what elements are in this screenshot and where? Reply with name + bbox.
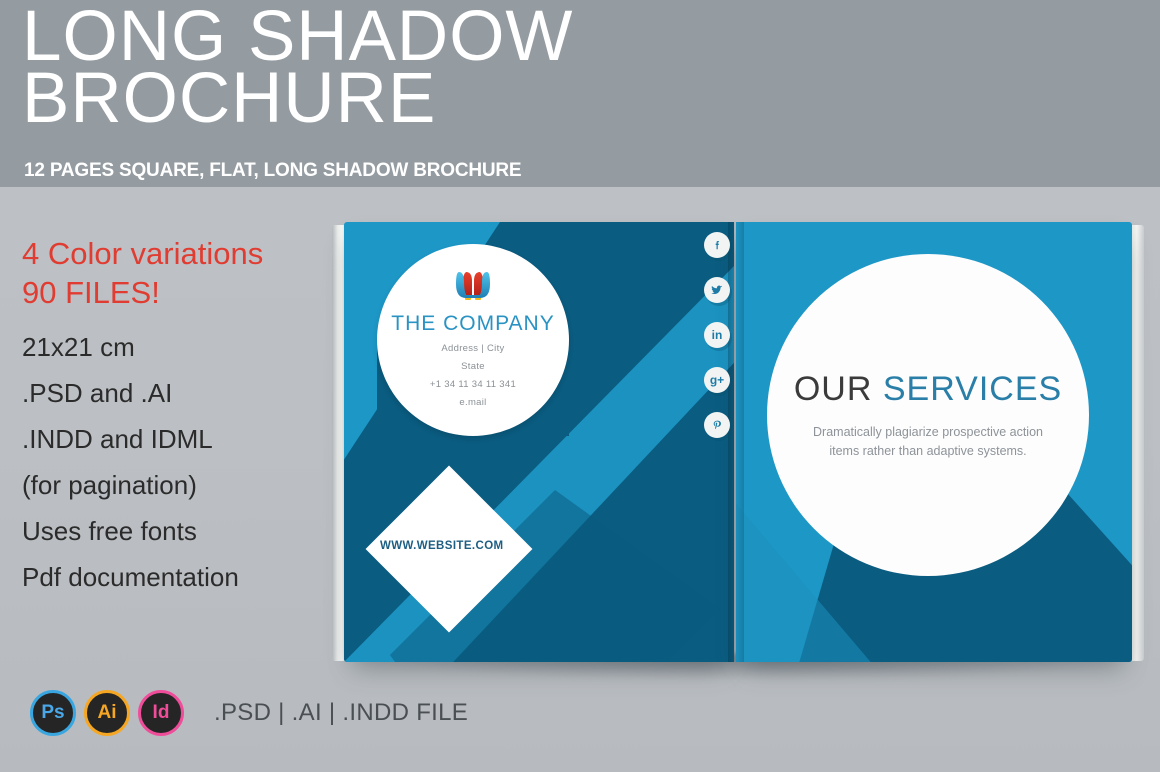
- feature-item: (for pagination): [22, 472, 322, 498]
- photoshop-badge-label: Ps: [41, 702, 64, 724]
- website-url: WWW.WEBSITE.COM: [380, 540, 520, 552]
- photoshop-badge-icon: Ps: [30, 690, 76, 736]
- file-format-footer: Ps Ai Id .PSD | .AI | .INDD FILE: [30, 690, 468, 736]
- feature-list: 4 Color variations 90 FILES! 21x21 cm .P…: [22, 238, 322, 610]
- brochure-left-page: THE COMPANY Address | City State +1 34 1…: [344, 222, 734, 662]
- poster-canvas: LONG SHADOW BROCHURE 12 PAGES SQUARE, FL…: [0, 0, 1160, 772]
- feature-item: 21x21 cm: [22, 334, 322, 360]
- company-phone: +1 34 11 34 11 341: [430, 379, 516, 390]
- page-stack-right-edge: [1132, 225, 1144, 661]
- company-circle: THE COMPANY Address | City State +1 34 1…: [377, 244, 569, 436]
- linkedin-icon-label: in: [712, 328, 723, 342]
- brochure-right-page: OUR SERVICES Dramatically plagiarize pro…: [736, 222, 1132, 662]
- company-name: THE COMPANY: [391, 312, 554, 336]
- company-email: e.mail: [459, 397, 486, 408]
- company-state: State: [461, 361, 485, 372]
- indesign-badge-icon: Id: [138, 690, 184, 736]
- googleplus-icon[interactable]: g+: [704, 367, 730, 393]
- title-line-2: BROCHURE: [22, 68, 922, 130]
- feature-item: Uses free fonts: [22, 518, 322, 544]
- illustrator-badge-label: Ai: [98, 702, 117, 724]
- facebook-icon[interactable]: [704, 232, 730, 258]
- services-title-word1: OUR: [794, 370, 873, 408]
- tulip-logo-icon: [451, 268, 495, 308]
- services-body-text: Dramatically plagiarize prospective acti…: [798, 423, 1058, 461]
- company-address: Address | City: [441, 343, 504, 354]
- feature-item: 4 Color variations: [22, 238, 322, 269]
- feature-item: .INDD and IDML: [22, 426, 322, 452]
- services-circle: OUR SERVICES Dramatically plagiarize pro…: [767, 254, 1089, 576]
- pinterest-icon[interactable]: [704, 412, 730, 438]
- services-title-word2: SERVICES: [883, 370, 1062, 408]
- services-title: OUR SERVICES: [794, 370, 1062, 409]
- illustrator-badge-icon: Ai: [84, 690, 130, 736]
- feature-item: .PSD and .AI: [22, 380, 322, 406]
- indesign-badge-label: Id: [153, 702, 170, 724]
- feature-item: Pdf documentation: [22, 564, 322, 590]
- social-icon-column: in g+: [704, 232, 730, 438]
- linkedin-icon[interactable]: in: [704, 322, 730, 348]
- file-format-label: .PSD | .AI | .INDD FILE: [214, 699, 468, 727]
- brochure-spread: THE COMPANY Address | City State +1 34 1…: [332, 222, 1144, 662]
- page-subtitle: 12 PAGES SQUARE, FLAT, LONG SHADOW BROCH…: [24, 160, 521, 182]
- page-title: LONG SHADOW BROCHURE: [22, 6, 922, 130]
- googleplus-icon-label: g+: [710, 373, 724, 387]
- twitter-icon[interactable]: [704, 277, 730, 303]
- feature-item: 90 FILES!: [22, 277, 322, 308]
